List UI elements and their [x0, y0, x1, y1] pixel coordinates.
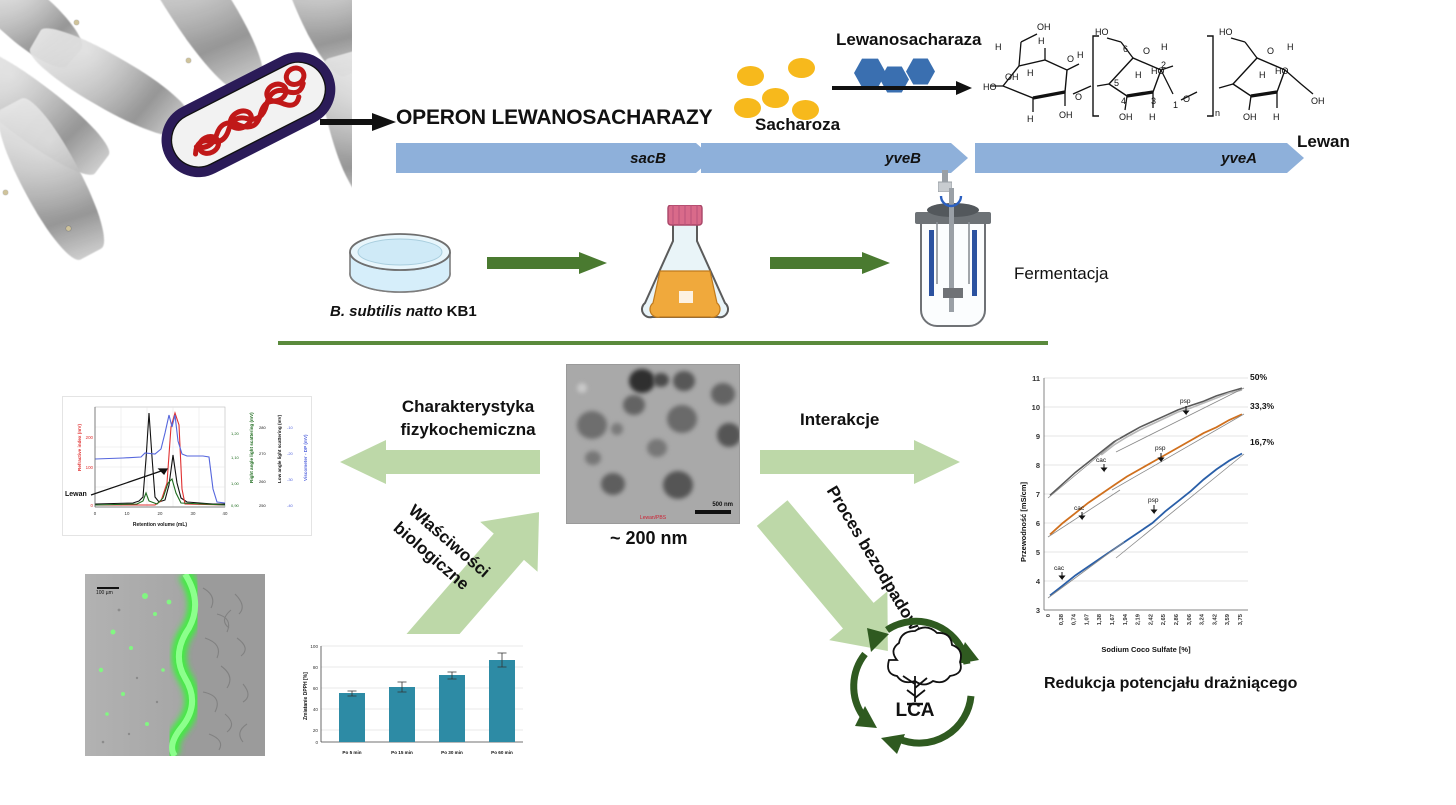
svg-text:1,38: 1,38 [1097, 613, 1103, 625]
svg-text:10: 10 [125, 511, 130, 516]
particle-size-label: ~ 200 nm [610, 528, 688, 549]
svg-text:16,7%: 16,7% [1250, 437, 1275, 447]
svg-text:H: H [1135, 70, 1142, 80]
tem-particle [585, 451, 601, 465]
svg-text:Po 60 min: Po 60 min [491, 750, 513, 755]
microscopy-scalebar [97, 587, 119, 589]
tem-particle [667, 405, 697, 433]
svg-text:60: 60 [313, 686, 319, 691]
sucrose-molecule-icon [737, 66, 764, 86]
svg-text:4: 4 [1036, 577, 1041, 586]
svg-text:-20: -20 [287, 451, 294, 456]
strain-label: B. subtilis natto KB1 [330, 303, 477, 320]
operon-input-arrow-icon [320, 112, 396, 132]
svg-text:5: 5 [1036, 548, 1040, 557]
svg-text:HO: HO [1219, 27, 1233, 37]
svg-text:3,06: 3,06 [1187, 613, 1193, 625]
bioreactor-icon [905, 188, 1001, 333]
svg-text:HO: HO [1275, 66, 1289, 76]
gene-segment-sacb: sacB [396, 143, 696, 173]
svg-text:0,38: 0,38 [1059, 613, 1065, 625]
svg-text:psp: psp [1148, 497, 1159, 504]
strain-code: KB1 [443, 303, 477, 320]
petri-dish-icon [340, 222, 460, 298]
svg-text:-40: -40 [287, 503, 294, 508]
svg-text:O: O [1143, 46, 1150, 56]
characterization-label: Charakterystyka fizykochemiczna [383, 396, 553, 442]
svg-text:9: 9 [1036, 432, 1040, 441]
svg-text:3,24: 3,24 [1200, 613, 1206, 625]
tem-particle [629, 369, 655, 393]
svg-text:OH: OH [1119, 112, 1133, 122]
svg-text:Right angle light scattering (: Right angle light scattering (mV) [249, 412, 254, 483]
process-arrow-1-icon [487, 252, 607, 274]
svg-text:100: 100 [86, 465, 94, 470]
tem-nanoparticle-image: 500 nm Lewan/PBS [566, 364, 740, 524]
svg-text:6: 6 [1123, 44, 1128, 54]
svg-text:20: 20 [158, 511, 163, 516]
svg-text:0,74: 0,74 [1072, 613, 1078, 625]
tem-particle [653, 373, 669, 387]
erlenmeyer-flask-icon [635, 205, 735, 323]
svg-text:OH: OH [1005, 72, 1019, 82]
irritation-reduction-caption: Redukcja potencjału drażniącego [1044, 675, 1297, 693]
svg-text:3,75: 3,75 [1238, 613, 1244, 625]
sem-speck [3, 190, 8, 195]
sucrose-label: Sacharoza [755, 115, 840, 135]
svg-text:Low angle light scattering (mV: Low angle light scattering (mV) [277, 414, 282, 483]
svg-text:40: 40 [313, 707, 319, 712]
tem-particle [717, 423, 740, 447]
lca-cycle-diagram: LCA [845, 612, 985, 757]
svg-text:8: 8 [1036, 461, 1040, 470]
fermentation-label: Fermentacja [1014, 264, 1108, 284]
bacterium-schematic [148, 28, 348, 203]
svg-text:OH: OH [1243, 112, 1257, 122]
svg-text:3: 3 [1036, 606, 1040, 615]
gene-segment-yvea: yveA [975, 143, 1287, 173]
svg-text:1,94: 1,94 [1123, 613, 1129, 625]
svg-text:H: H [1077, 50, 1084, 60]
svg-text:H: H [995, 42, 1002, 52]
sec-chromatogram: 01020 3040 Retention volume (mL) 0100200… [62, 396, 312, 536]
svg-text:40: 40 [223, 511, 228, 516]
svg-text:2,65: 2,65 [1161, 613, 1167, 625]
svg-text:80: 80 [313, 665, 319, 670]
svg-text:H: H [1038, 36, 1045, 46]
tem-particle [663, 471, 693, 499]
svg-text:33,3%: 33,3% [1250, 401, 1275, 411]
tem-scalebar-label: 500 nm [712, 502, 733, 508]
tem-particle [577, 383, 587, 393]
tem-particle [673, 371, 695, 391]
svg-text:Sodium Coco Sulfate [%]: Sodium Coco Sulfate [%] [1101, 645, 1191, 654]
lewan-chemical-structure: OH HO H OH OH H H O H H O HO 6 5 4 3 2 O… [975, 8, 1375, 138]
svg-text:270: 270 [259, 451, 266, 456]
svg-text:Refractive index (mV): Refractive index (mV) [77, 424, 82, 471]
svg-text:O: O [1267, 46, 1274, 56]
svg-text:Retention volume (mL): Retention volume (mL) [133, 522, 188, 528]
gene-label: yveB [885, 150, 951, 167]
svg-text:OH: OH [1059, 110, 1073, 120]
svg-text:3: 3 [1151, 96, 1156, 106]
svg-text:OH: OH [1037, 22, 1051, 32]
svg-text:2,19: 2,19 [1136, 613, 1142, 625]
svg-text:H: H [1027, 114, 1034, 124]
svg-text:Przewodność [mS/cm]: Przewodność [mS/cm] [1019, 481, 1028, 562]
svg-text:cac: cac [1096, 457, 1107, 464]
svg-text:5: 5 [1114, 78, 1119, 88]
svg-text:200: 200 [86, 435, 94, 440]
svg-text:HO: HO [1151, 66, 1165, 76]
svg-text:20: 20 [313, 728, 319, 733]
tem-particle [577, 411, 607, 439]
lewan-product-label: Lewan [1297, 132, 1350, 152]
svg-text:260: 260 [259, 479, 266, 484]
tem-particle [623, 395, 645, 415]
sem-speck [74, 20, 79, 25]
arrow-to-characterization-icon [340, 440, 540, 484]
chromatogram-annotation: Lewan [65, 491, 87, 498]
tem-scalebar [695, 510, 731, 514]
svg-text:250: 250 [259, 503, 266, 508]
svg-text:1,07: 1,07 [1084, 614, 1090, 625]
dpph-antioxidant-chart: 02040 6080100 Po 5 min Po 15 min Po 30 m… [295, 634, 529, 762]
tem-particle [611, 423, 623, 435]
section-divider [278, 341, 1048, 345]
svg-text:HO: HO [1095, 27, 1109, 37]
sucrose-molecule-icon [788, 58, 815, 78]
svg-text:2,86: 2,86 [1174, 613, 1180, 625]
svg-text:H: H [1161, 42, 1168, 52]
svg-text:50%: 50% [1250, 372, 1267, 382]
svg-text:psp: psp [1155, 445, 1166, 452]
enzyme-label: Lewanosacharaza [836, 30, 982, 50]
svg-text:7: 7 [1036, 490, 1040, 499]
page-title: OPERON LEWANOSACHARAZY [396, 106, 712, 130]
svg-text:2,42: 2,42 [1148, 614, 1154, 625]
sem-speck [66, 226, 71, 231]
sucrose-molecule-icon [762, 88, 789, 108]
tem-particle [601, 473, 625, 495]
svg-text:O: O [1067, 54, 1074, 64]
reaction-arrow-icon [832, 80, 972, 96]
svg-text:O: O [1075, 92, 1082, 102]
svg-text:280: 280 [259, 425, 266, 430]
svg-text:Viscometer - DP (mV): Viscometer - DP (mV) [303, 434, 308, 481]
svg-text:0: 0 [94, 511, 97, 516]
svg-text:4: 4 [1121, 96, 1126, 106]
svg-text:6: 6 [1036, 519, 1040, 528]
svg-text:0: 0 [91, 503, 94, 508]
svg-text:H: H [1259, 70, 1266, 80]
svg-text:H: H [1273, 112, 1280, 122]
svg-text:1,67: 1,67 [1110, 614, 1116, 625]
svg-text:0: 0 [315, 740, 318, 745]
svg-text:-10: -10 [287, 425, 294, 430]
fluorescence-microscopy-image: 100 µm [85, 574, 265, 756]
svg-text:3,59: 3,59 [1225, 613, 1231, 625]
svg-text:cac: cac [1054, 565, 1065, 572]
conductivity-chart: 11109 876 543 50% 33,3% 16,7% cac [1012, 362, 1280, 662]
process-arrow-2-icon [770, 252, 890, 274]
svg-text:0,90: 0,90 [231, 503, 240, 508]
svg-text:HO: HO [983, 82, 997, 92]
svg-text:O: O [1183, 94, 1190, 104]
svg-text:30: 30 [191, 511, 196, 516]
svg-text:H: H [1287, 42, 1294, 52]
svg-text:3,42: 3,42 [1212, 614, 1218, 625]
gene-label: yveA [1221, 150, 1287, 167]
strain-genus: B. subtilis natto [330, 303, 443, 320]
tem-particle [711, 383, 735, 405]
svg-text:H: H [1027, 68, 1034, 78]
svg-text:psp: psp [1180, 398, 1191, 405]
svg-text:cac: cac [1074, 505, 1085, 512]
svg-text:Po 5 min: Po 5 min [342, 750, 361, 755]
interactions-label: Interakcje [800, 410, 879, 430]
lca-label: LCA [845, 700, 985, 722]
svg-text:1,10: 1,10 [231, 455, 240, 460]
gene-segment-yveb: yveB [701, 143, 951, 173]
svg-text:10: 10 [1032, 403, 1040, 412]
svg-text:1: 1 [1173, 100, 1178, 110]
svg-text:n: n [1215, 108, 1220, 118]
arrow-to-interactions-icon [760, 440, 960, 484]
svg-text:1,00: 1,00 [231, 481, 240, 486]
svg-text:100: 100 [310, 644, 318, 649]
microscopy-scalebar-label: 100 µm [96, 590, 113, 596]
svg-text:Po 30 min: Po 30 min [441, 750, 463, 755]
svg-text:1,20: 1,20 [231, 431, 240, 436]
svg-text:OH: OH [1311, 96, 1325, 106]
tem-watermark: Lewan/PBS [640, 515, 666, 521]
svg-text:-30: -30 [287, 477, 294, 482]
svg-text:H: H [1149, 112, 1156, 122]
svg-text:0: 0 [1046, 614, 1052, 617]
svg-text:Zmiatanie DPPH [%]: Zmiatanie DPPH [%] [303, 672, 309, 720]
svg-text:11: 11 [1032, 374, 1040, 383]
tem-particle [647, 439, 667, 457]
gene-label: sacB [630, 150, 696, 167]
svg-text:Po 15 min: Po 15 min [391, 750, 413, 755]
